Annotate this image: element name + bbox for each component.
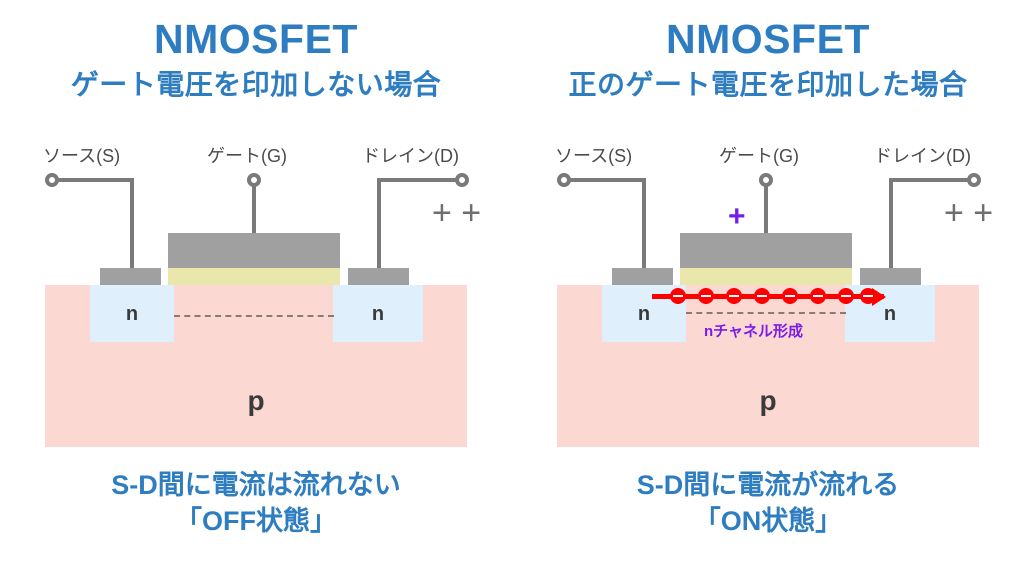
drain-terminal-label-on: ドレイン(D) <box>874 142 971 168</box>
gate-wire-vertical-off <box>252 186 256 234</box>
source-wire-horizontal-on <box>570 178 646 182</box>
gate-wire-vertical-on <box>764 186 768 234</box>
electron-icon <box>670 288 686 304</box>
caption-line1-off: S-D間に電流は流れない <box>0 468 512 502</box>
drain-contact-pad-on <box>860 268 921 285</box>
p-substrate-label-off: p <box>45 385 467 417</box>
source-wire-vertical-on <box>642 178 646 270</box>
source-contact-pad-off <box>100 268 161 285</box>
channel-formation-label-on: nチャネル形成 <box>704 320 803 341</box>
gate-metal-on <box>680 233 852 268</box>
gate-metal-off <box>168 233 340 268</box>
channel-dashed-line-on <box>686 312 846 314</box>
electron-icon <box>838 288 854 304</box>
source-wire-vertical-off <box>130 178 134 270</box>
caption-line1-on: S-D間に電流が流れる <box>512 468 1024 502</box>
drain-node-on <box>967 173 981 187</box>
drain-node-off <box>455 173 469 187</box>
caption-line2-on: 「ON状態」 <box>512 504 1024 538</box>
drain-wire-vertical-on <box>889 178 893 270</box>
electron-icon <box>754 288 770 304</box>
gate-bias-plus-on: + <box>728 200 746 234</box>
depletion-dashed-line-off <box>174 315 334 317</box>
gate-oxide-on <box>680 268 852 285</box>
n-source-label-on: n <box>614 303 674 326</box>
n-drain-label-off: n <box>348 303 408 326</box>
drain-wire-horizontal-on <box>889 178 969 182</box>
panel-on-state: NMOSFET 正のゲート電圧を印加した場合 ソース(S) ゲート(G) ドレイ… <box>512 0 1024 576</box>
electron-icon <box>698 288 714 304</box>
drain-bias-plus-on: + + <box>944 196 993 230</box>
source-node-off <box>45 173 59 187</box>
source-contact-pad-on <box>612 268 673 285</box>
drain-bias-plus-off: + + <box>432 196 481 230</box>
electron-icon <box>782 288 798 304</box>
source-terminal-label-on: ソース(S) <box>555 142 632 168</box>
drain-contact-pad-off <box>348 268 409 285</box>
drain-wire-horizontal-off <box>377 178 457 182</box>
p-substrate-label-on: p <box>557 385 979 417</box>
drain-terminal-label-off: ドレイン(D) <box>362 142 459 168</box>
electron-icon <box>860 288 876 304</box>
n-drain-label-on: n <box>860 303 920 326</box>
gate-terminal-label-off: ゲート(G) <box>207 142 287 168</box>
source-node-on <box>557 173 571 187</box>
drain-wire-vertical-off <box>377 178 381 270</box>
gate-node-off <box>247 173 261 187</box>
source-terminal-label-off: ソース(S) <box>43 142 120 168</box>
electron-icon <box>726 288 742 304</box>
caption-line2-off: 「OFF状態」 <box>0 504 512 538</box>
gate-oxide-off <box>168 268 340 285</box>
gate-node-on <box>759 173 773 187</box>
electron-icon <box>810 288 826 304</box>
gate-terminal-label-on: ゲート(G) <box>719 142 799 168</box>
n-source-label-off: n <box>102 303 162 326</box>
source-wire-horizontal-off <box>58 178 134 182</box>
panel-off-state: NMOSFET ゲート電圧を印加しない場合 ソース(S) ゲート(G) ドレイン… <box>0 0 512 576</box>
